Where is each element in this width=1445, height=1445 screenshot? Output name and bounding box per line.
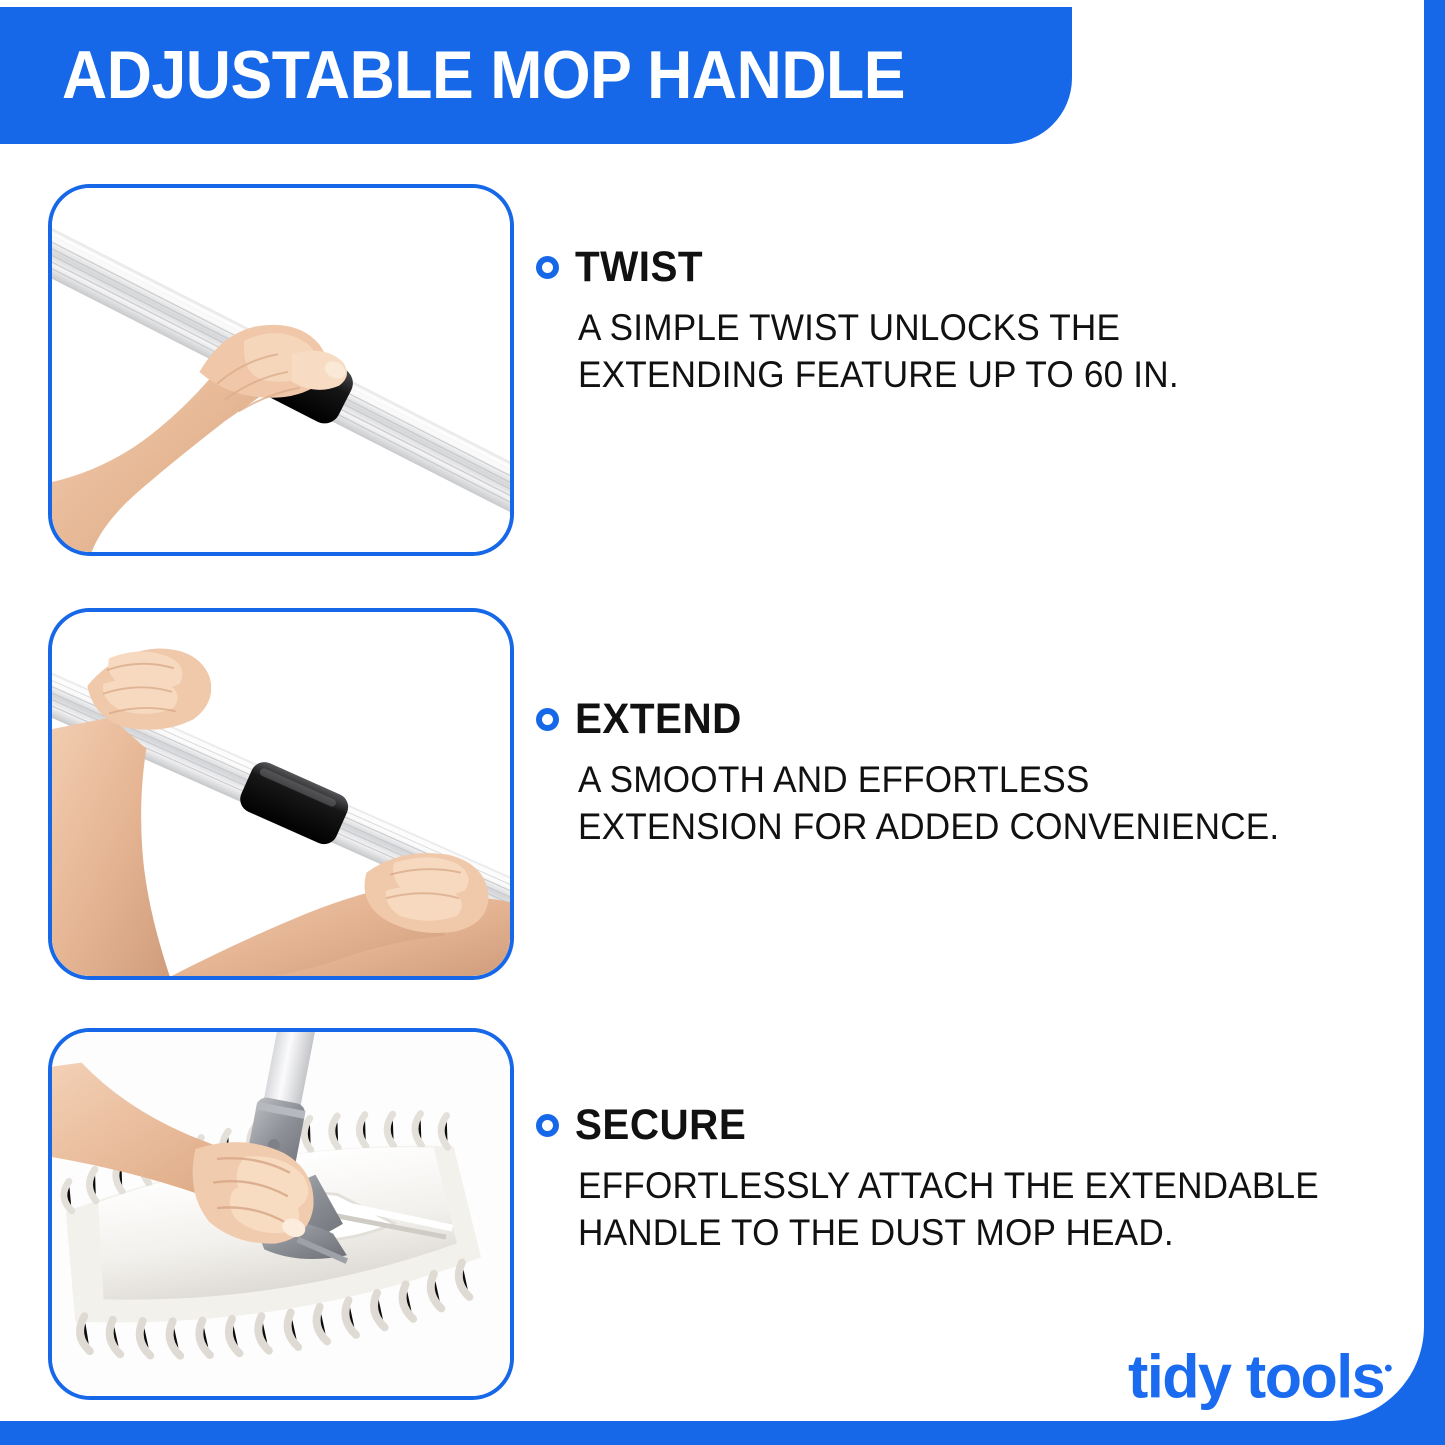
- step-heading: TWIST: [575, 244, 703, 290]
- step-heading-line: EXTEND: [536, 696, 1396, 742]
- photo-secure-illustration: [52, 1032, 510, 1396]
- step-text-secure: SECURE EFFORTLESSLY ATTACH THE EXTENDABL…: [536, 1102, 1396, 1256]
- step-body: EFFORTLESSLY ATTACH THE EXTENDABLE HANDL…: [578, 1162, 1355, 1256]
- page-background: ADJUSTABLE MOP HANDLE: [0, 0, 1445, 1445]
- bullet-ring-icon: [536, 1114, 559, 1137]
- step-row-extend: EXTEND A SMOOTH AND EFFORTLESS EXTENSION…: [0, 608, 1424, 980]
- photo-card-secure: [48, 1028, 514, 1400]
- step-row-twist: TWIST A SIMPLE TWIST UNLOCKS THE EXTENDI…: [0, 184, 1424, 556]
- step-body: A SIMPLE TWIST UNLOCKS THE EXTENDING FEA…: [578, 304, 1355, 398]
- brand-logo-text: tidy tools: [1128, 1342, 1384, 1410]
- trademark-mark: •: [1384, 1355, 1392, 1382]
- photo-extend-illustration: [52, 612, 510, 976]
- brand-logo: tidy tools•: [1128, 1336, 1393, 1409]
- bullet-ring-icon: [536, 256, 559, 279]
- step-heading-line: SECURE: [536, 1102, 1396, 1148]
- step-text-extend: EXTEND A SMOOTH AND EFFORTLESS EXTENSION…: [536, 696, 1396, 850]
- photo-twist-illustration: [52, 188, 510, 552]
- photo-card-twist: [48, 184, 514, 556]
- step-heading-line: TWIST: [536, 244, 1396, 290]
- photo-card-extend: [48, 608, 514, 980]
- step-heading: SECURE: [575, 1102, 746, 1148]
- step-heading: EXTEND: [575, 696, 742, 742]
- page-title: ADJUSTABLE MOP HANDLE: [62, 37, 905, 113]
- step-body: A SMOOTH AND EFFORTLESS EXTENSION FOR AD…: [578, 756, 1355, 850]
- bullet-ring-icon: [536, 708, 559, 731]
- header-banner: ADJUSTABLE MOP HANDLE: [0, 7, 1072, 144]
- step-text-twist: TWIST A SIMPLE TWIST UNLOCKS THE EXTENDI…: [536, 244, 1396, 398]
